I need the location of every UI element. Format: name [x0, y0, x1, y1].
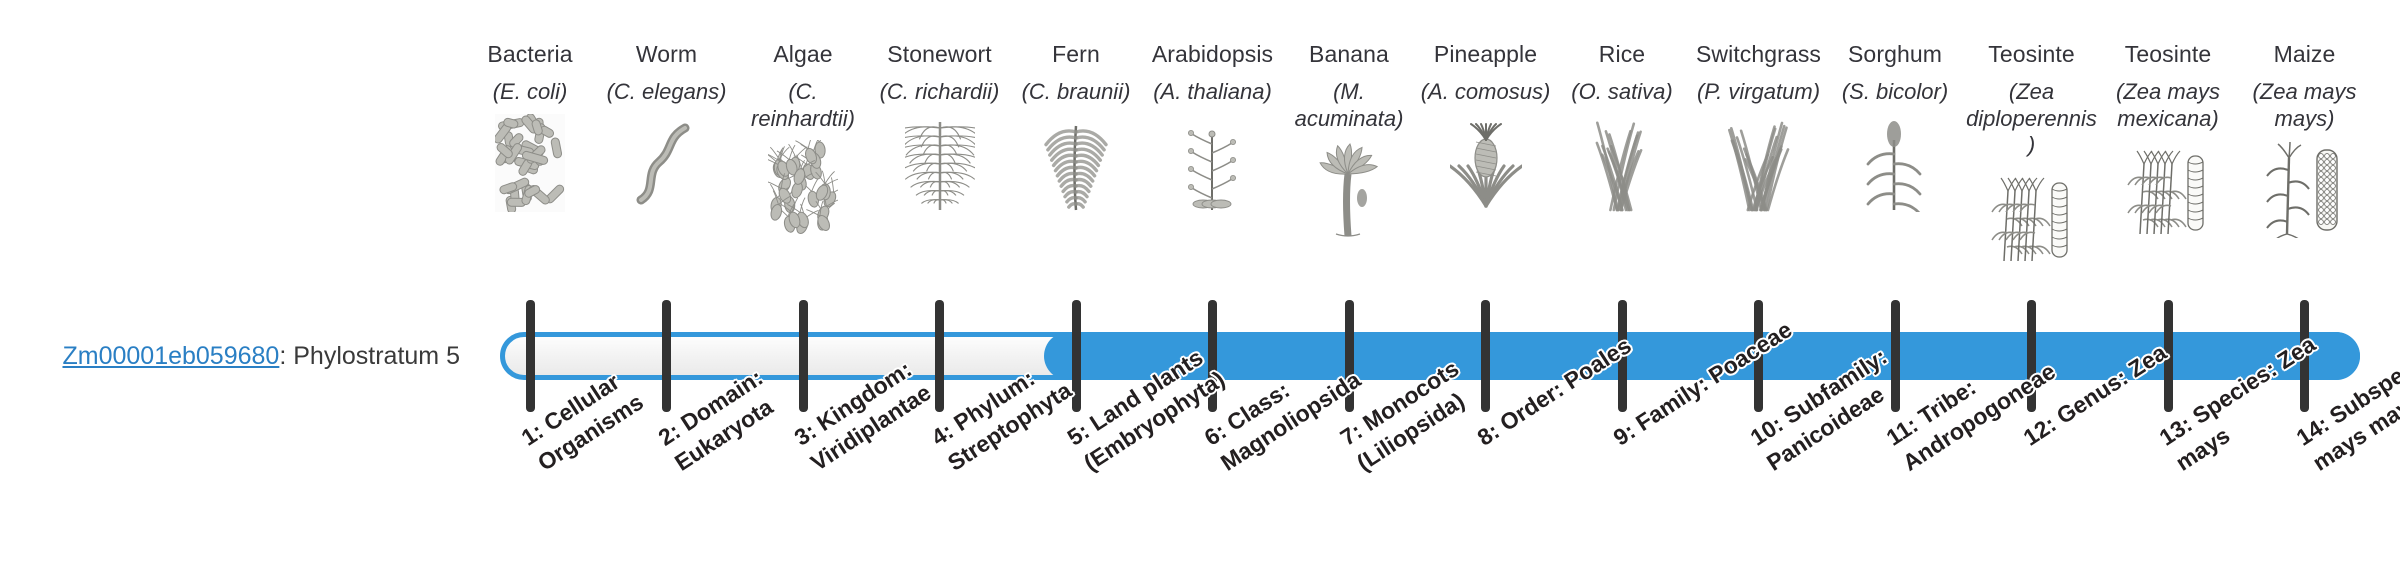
species-common-name: Pineapple	[1418, 40, 1554, 69]
species-scientific-name: (S. bicolor)	[1827, 79, 1963, 106]
gene-id-link[interactable]: Zm00001eb059680	[62, 342, 279, 370]
rank-number: 12:	[2018, 411, 2060, 451]
bacteria-rods-icon	[462, 112, 598, 212]
species-common-name: Stonewort	[872, 40, 1008, 69]
teosinte-plant-ear-icon	[1964, 165, 2100, 265]
species-scientific-name: (Zea mays mays)	[2237, 79, 2373, 133]
phylostratum-value: Phylostratum 5	[293, 342, 460, 370]
species-column: Teosinte(Zea diploperennis)	[1964, 40, 2100, 265]
teosinte-plant-ear-icon	[2100, 138, 2236, 238]
species-common-name: Teosinte	[2100, 40, 2236, 69]
species-common-name: Arabidopsis	[1145, 40, 1281, 69]
species-column: Sorghum(S. bicolor)	[1827, 40, 1963, 212]
species-column: Fern(C. braunii)	[1008, 40, 1144, 212]
species-scientific-name: (Zea mays mexicana)	[2100, 79, 2236, 133]
rank-number: 6:	[1199, 418, 1230, 451]
species-common-name: Fern	[1008, 40, 1144, 69]
sorghum-plant-icon	[1827, 112, 1963, 212]
species-common-name: Teosinte	[1964, 40, 2100, 69]
arabidopsis-plant-icon	[1145, 112, 1281, 212]
rank-number: 9:	[1609, 418, 1640, 451]
rice-grass-icon	[1554, 112, 1690, 212]
species-scientific-name: (C. elegans)	[599, 79, 735, 106]
species-common-name: Worm	[599, 40, 735, 69]
species-scientific-name: (A. comosus)	[1418, 79, 1554, 106]
switchgrass-icon	[1691, 112, 1827, 212]
species-column: Stonewort(C. richardii)	[872, 40, 1008, 212]
species-column: Banana(M. acuminata)	[1281, 40, 1417, 238]
species-common-name: Bacteria	[462, 40, 598, 69]
rank-text: Cellular Organisms	[533, 368, 648, 475]
stonewort-alga-icon	[872, 112, 1008, 212]
species-scientific-name: (P. virgatum)	[1691, 79, 1827, 106]
species-common-name: Banana	[1281, 40, 1417, 69]
rank-number: 4:	[926, 418, 957, 451]
species-column: Worm(C. elegans)	[599, 40, 735, 212]
pineapple-plant-icon	[1418, 112, 1554, 212]
species-column: Arabidopsis(A. thaliana)	[1145, 40, 1281, 212]
fern-frond-icon	[1008, 112, 1144, 212]
species-column: Switchgrass(P. virgatum)	[1691, 40, 1827, 212]
species-column: Pineapple(A. comosus)	[1418, 40, 1554, 212]
phylostratum-chart: Zm00001eb059680: Phylostratum 5 Bacteria…	[0, 0, 2400, 580]
row-label: Zm00001eb059680: Phylostratum 5	[40, 341, 460, 371]
species-common-name: Sorghum	[1827, 40, 1963, 69]
nematode-worm-icon	[599, 112, 735, 212]
species-common-name: Maize	[2237, 40, 2373, 69]
maize-plant-cob-icon	[2237, 138, 2373, 238]
banana-tree-icon	[1281, 138, 1417, 238]
species-column: Algae(C. reinhardtii)	[735, 40, 871, 238]
species-scientific-name: (Zea diploperennis)	[1964, 79, 2100, 159]
rank-number: 8:	[1472, 418, 1503, 451]
species-column: Teosinte(Zea mays mexicana)	[2100, 40, 2236, 238]
stage-tick[interactable]	[526, 300, 535, 412]
species-scientific-name: (E. coli)	[462, 79, 598, 106]
species-scientific-name: (C. reinhardtii)	[735, 79, 871, 133]
species-scientific-name: (O. sativa)	[1554, 79, 1690, 106]
rank-number: 2:	[653, 418, 684, 451]
chlamydomonas-cells-icon	[735, 138, 871, 238]
gene-id-separator: :	[279, 342, 293, 370]
species-scientific-name: (C. braunii)	[1008, 79, 1144, 106]
species-column: Maize(Zea mays mays)	[2237, 40, 2373, 238]
species-column: Rice(O. sativa)	[1554, 40, 1690, 212]
species-scientific-name: (A. thaliana)	[1145, 79, 1281, 106]
species-common-name: Rice	[1554, 40, 1690, 69]
species-scientific-name: (C. richardii)	[872, 79, 1008, 106]
species-scientific-name: (M. acuminata)	[1281, 79, 1417, 133]
species-column: Bacteria(E. coli)	[462, 40, 598, 212]
species-common-name: Switchgrass	[1691, 40, 1827, 69]
species-common-name: Algae	[735, 40, 871, 69]
